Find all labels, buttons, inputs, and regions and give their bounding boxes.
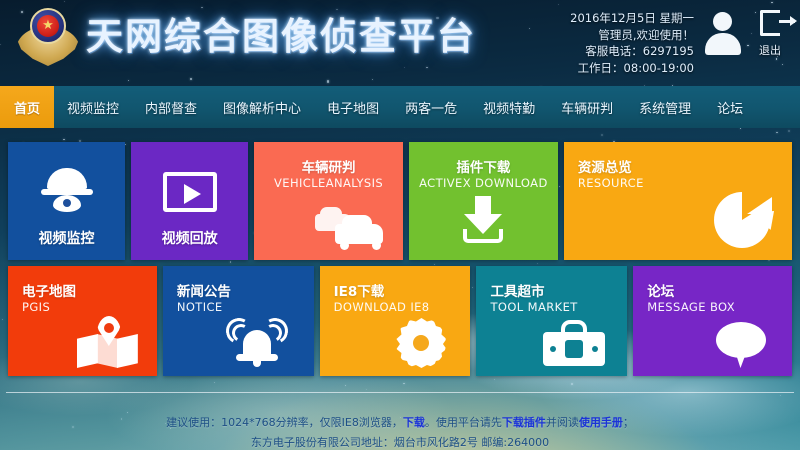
nav-item-2[interactable]: 内部督查 bbox=[132, 86, 210, 128]
footer-download-link[interactable]: 下载 bbox=[403, 416, 425, 429]
tile-tool-market[interactable]: 工具超市TOOL MARKET bbox=[476, 266, 627, 376]
footer-line-1: 建议使用：1024*768分辨率，仅限IE8浏览器，下载。使用平台请先下载插件并… bbox=[0, 414, 800, 430]
footer-text-b: 。使用平台请先 bbox=[425, 416, 502, 429]
tile-title: IE8下载 bbox=[334, 280, 385, 300]
tile-title: 工具超市 bbox=[490, 280, 544, 300]
footer-text-d: ； bbox=[623, 416, 634, 429]
logout-button[interactable]: 退出 bbox=[748, 8, 792, 70]
footer-divider bbox=[6, 392, 794, 393]
tile-title: 插件下载 bbox=[409, 156, 558, 176]
tile-message-box[interactable]: 论坛MESSAGE BOX bbox=[633, 266, 792, 376]
tile-subtitle: PGIS bbox=[22, 300, 50, 314]
two-cars-icon bbox=[315, 208, 387, 250]
tile-subtitle: TOOL MARKET bbox=[490, 300, 577, 314]
map-pin-icon bbox=[77, 316, 139, 368]
tile-activex-download[interactable]: 插件下载ACTIVEX DOWNLOAD bbox=[409, 142, 558, 260]
tile-video-monitor[interactable]: 视频监控 bbox=[8, 142, 125, 260]
tile-video-playback[interactable]: 视频回放 bbox=[131, 142, 248, 260]
tile-title: 新闻公告 bbox=[177, 280, 231, 300]
current-date: 2016年12月5日 星期一 bbox=[570, 10, 694, 27]
tile-subtitle: NOTICE bbox=[177, 300, 223, 314]
footer-plugin-link[interactable]: 下载插件 bbox=[502, 416, 546, 429]
page-footer: 建议使用：1024*768分辨率，仅限IE8浏览器，下载。使用平台请先下载插件并… bbox=[0, 392, 800, 450]
service-phone: 客服电话：6297195 bbox=[570, 43, 694, 60]
download-arrow-icon bbox=[457, 196, 509, 244]
page-header: ★ 天网综合图像侦查平台 2016年12月5日 星期一 管理员,欢迎使用！ 客服… bbox=[0, 0, 800, 86]
tile-subtitle: VEHICLEANALYSIS bbox=[254, 176, 403, 190]
footer-text-a: 建议使用：1024*768分辨率，仅限IE8浏览器， bbox=[166, 416, 403, 429]
nav-item-3[interactable]: 图像解析中心 bbox=[210, 86, 314, 128]
nav-item-7[interactable]: 车辆研判 bbox=[548, 86, 626, 128]
tile-title: 视频回放 bbox=[131, 228, 248, 248]
tile-subtitle: MESSAGE BOX bbox=[647, 300, 735, 314]
user-avatar-icon[interactable] bbox=[702, 8, 744, 62]
nav-item-0[interactable]: 首页 bbox=[0, 86, 54, 128]
bell-icon bbox=[226, 318, 288, 368]
tile-subtitle: ACTIVEX DOWNLOAD bbox=[409, 176, 558, 190]
tile-download-ie8[interactable]: IE8下载DOWNLOAD IE8 bbox=[320, 266, 471, 376]
gear-icon bbox=[396, 318, 446, 368]
tile-vehicle-analysis[interactable]: 车辆研判VEHICLEANALYSIS bbox=[254, 142, 403, 260]
police-badge-icon: ★ bbox=[16, 6, 80, 70]
tile-subtitle: DOWNLOAD IE8 bbox=[334, 300, 430, 314]
user-greeting: 管理员,欢迎使用！ bbox=[570, 27, 694, 44]
tile-row-1: 视频监控视频回放车辆研判VEHICLEANALYSIS插件下载ACTIVEX D… bbox=[8, 142, 792, 260]
play-button-icon bbox=[163, 172, 217, 212]
pie-chart-icon bbox=[714, 192, 770, 248]
nav-item-1[interactable]: 视频监控 bbox=[54, 86, 132, 128]
header-info-block: 2016年12月5日 星期一 管理员,欢迎使用！ 客服电话：6297195 工作… bbox=[570, 10, 694, 76]
speech-bubble-icon bbox=[716, 322, 766, 368]
tile-title: 视频监控 bbox=[8, 228, 125, 248]
tile-dashboard: 视频监控视频回放车辆研判VEHICLEANALYSIS插件下载ACTIVEX D… bbox=[8, 142, 792, 382]
work-hours: 工作日：08:00-19:00 bbox=[570, 60, 694, 77]
tile-news-notice[interactable]: 新闻公告NOTICE bbox=[163, 266, 314, 376]
toolbox-icon bbox=[543, 320, 605, 368]
main-navigation: 首页视频监控内部督查图像解析中心电子地图两客一危视频特勤车辆研判系统管理论坛 bbox=[0, 86, 800, 128]
nav-item-9[interactable]: 论坛 bbox=[704, 86, 756, 128]
page-title: 天网综合图像侦查平台 bbox=[86, 6, 476, 60]
nav-item-5[interactable]: 两客一危 bbox=[392, 86, 470, 128]
footer-line-2: 东方电子股份有限公司地址：烟台市风化路2号 邮编:264000 bbox=[0, 434, 800, 450]
nav-item-8[interactable]: 系统管理 bbox=[626, 86, 704, 128]
tile-resource-overview[interactable]: 资源总览RESOURCE bbox=[564, 142, 792, 260]
footer-text-c: 并阅读 bbox=[546, 416, 579, 429]
tile-row-2: 电子地图PGIS新闻公告NOTICEIE8下载DOWNLOAD IE8工具超市T… bbox=[8, 266, 792, 376]
tile-title: 资源总览 bbox=[578, 156, 632, 176]
logout-label: 退出 bbox=[748, 42, 792, 58]
tile-title: 论坛 bbox=[647, 280, 674, 300]
tile-title: 车辆研判 bbox=[254, 156, 403, 176]
nav-item-6[interactable]: 视频特勤 bbox=[470, 86, 548, 128]
tile-subtitle: RESOURCE bbox=[578, 176, 644, 190]
tile-pgis-map[interactable]: 电子地图PGIS bbox=[8, 266, 157, 376]
nav-item-4[interactable]: 电子地图 bbox=[314, 86, 392, 128]
dome-camera-icon bbox=[39, 168, 95, 212]
tile-title: 电子地图 bbox=[22, 280, 76, 300]
footer-manual-link[interactable]: 使用手册 bbox=[579, 416, 623, 429]
logout-door-icon bbox=[760, 10, 780, 36]
